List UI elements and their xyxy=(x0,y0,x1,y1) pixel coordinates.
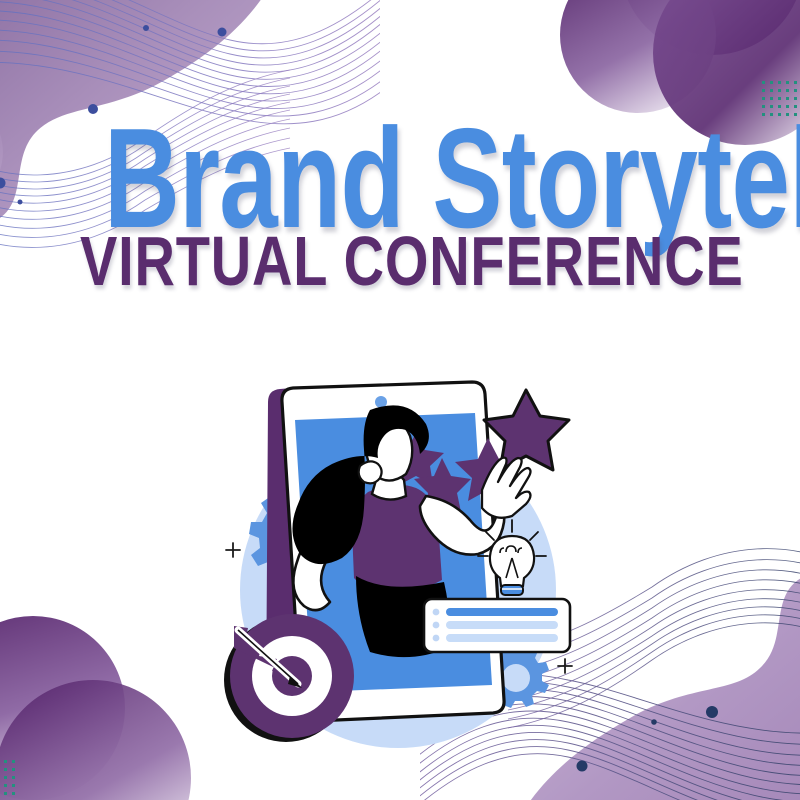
accent-dot xyxy=(651,719,657,725)
page-subtitle: VIRTUAL CONFERENCE xyxy=(80,226,720,296)
list-bullet xyxy=(433,635,440,642)
dot-grid-teal xyxy=(0,760,15,795)
sparkle-cross-left-icon xyxy=(226,543,240,557)
accent-dot xyxy=(706,706,718,718)
woman-hand-chin xyxy=(359,461,382,483)
list-row xyxy=(446,634,558,642)
gradient-circle-front xyxy=(0,680,191,800)
gradient-circle-back xyxy=(620,0,800,55)
accent-dot xyxy=(218,28,227,37)
list-row-active xyxy=(446,608,558,616)
gradient-circle-left xyxy=(560,0,716,113)
gradient-circle-back xyxy=(0,616,125,800)
lightbulb-base xyxy=(501,585,523,595)
title-block: Brand Storytelling VIRTUAL CONFERENCE xyxy=(0,118,800,296)
list-bullet xyxy=(433,609,440,616)
decoration-bottom-left xyxy=(0,560,235,800)
poster-canvas: Brand Storytelling VIRTUAL CONFERENCE xyxy=(0,0,800,800)
accent-dot xyxy=(143,25,149,31)
checklist-card[interactable] xyxy=(424,599,570,652)
hero-illustration xyxy=(220,380,580,760)
accent-dot xyxy=(577,761,588,772)
accent-dot xyxy=(88,104,98,114)
list-bullet xyxy=(433,622,440,629)
sparkle-cross-right-icon xyxy=(558,659,572,673)
list-row xyxy=(446,621,558,629)
